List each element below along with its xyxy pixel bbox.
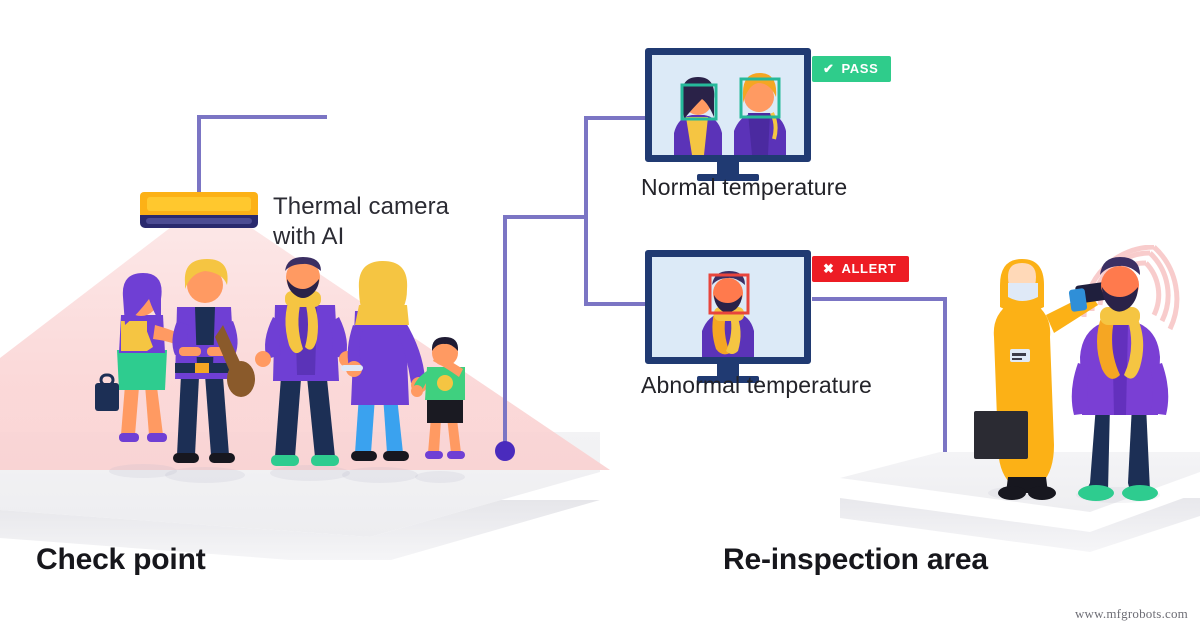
pass-badge: ✔ PASS	[812, 56, 891, 82]
thermal-camera-label-line2: with AI	[273, 222, 503, 252]
connector-line-to-abnormal-monitor	[584, 302, 646, 306]
alert-badge-label: ALLERT	[842, 261, 897, 276]
connector-line-alert-horizontal	[812, 297, 947, 301]
thermal-camera-lens	[147, 197, 251, 211]
reinspection-illustration	[950, 245, 1190, 505]
connector-line-bracket-mid	[503, 215, 588, 219]
normal-monitor-screen	[652, 55, 804, 155]
cross-icon: ✖	[823, 262, 835, 275]
thermal-camera-label: Thermal camera with AI	[273, 192, 503, 252]
watermark: www.mfgrobots.com	[1075, 606, 1188, 622]
abnormal-monitor-screen	[652, 257, 804, 357]
check-icon: ✔	[823, 62, 835, 75]
alert-badge: ✖ ALLERT	[812, 256, 909, 282]
camera-mount-line-horizontal	[197, 115, 327, 119]
thermal-camera-label-line1: Thermal camera	[273, 192, 503, 222]
checkpoint-heading: Check point	[36, 543, 205, 577]
connector-line-to-normal-monitor	[584, 116, 646, 120]
infographic-canvas: Thermal camera with AI	[0, 0, 1200, 628]
normal-monitor-scene	[652, 55, 804, 155]
connector-line-bracket-spine	[584, 116, 588, 306]
normal-temperature-monitor	[645, 48, 811, 162]
checkpoint-people-illustration	[95, 255, 495, 485]
abnormal-temperature-caption: Abnormal temperature	[641, 372, 872, 399]
connector-line-to-checkpoint	[503, 215, 507, 450]
abnormal-monitor-bezel	[645, 250, 811, 364]
camera-mount-line-vertical	[197, 115, 201, 195]
connector-endpoint-dot	[495, 441, 515, 461]
reinspection-heading: Re-inspection area	[723, 543, 988, 577]
person-woman-blonde	[172, 259, 255, 463]
thermal-camera-base-strip	[146, 218, 252, 224]
abnormal-temperature-monitor	[645, 250, 811, 364]
pass-badge-label: PASS	[842, 61, 879, 76]
person-bearded-man	[255, 257, 355, 466]
normal-temperature-caption: Normal temperature	[641, 174, 847, 201]
normal-monitor-bezel	[645, 48, 811, 162]
abnormal-monitor-scene	[652, 257, 804, 357]
person-hijab-woman	[341, 261, 427, 461]
